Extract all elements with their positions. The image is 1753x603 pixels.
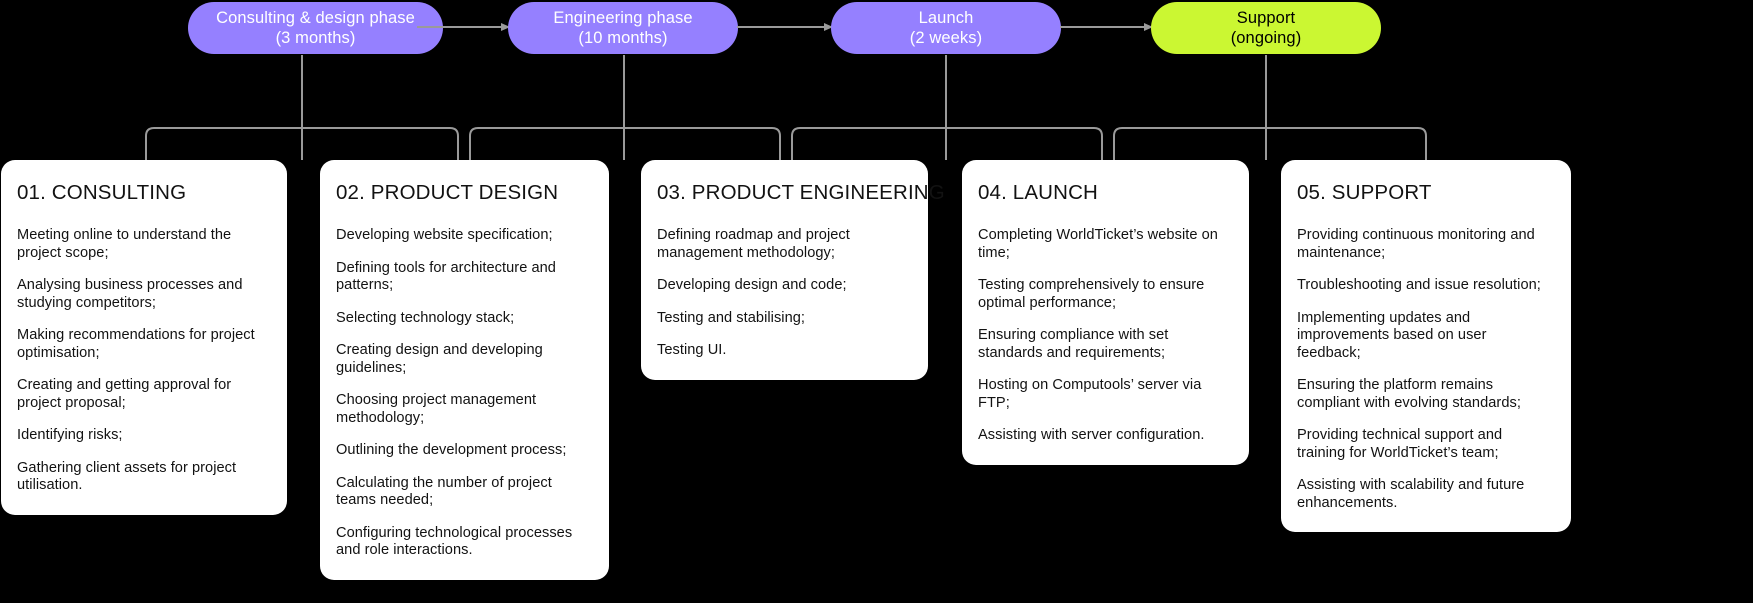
card-list-item: Creating and getting approval for projec… [17, 377, 269, 412]
card-launch[interactable]: 04. LAUNCH Completing WorldTicket’s webs… [962, 160, 1249, 465]
card-list-item: Completing WorldTicket’s website on time… [978, 227, 1231, 262]
arrow-engineering-to-launch [737, 26, 832, 28]
card-list-item: Developing design and code; [657, 277, 910, 295]
card-list-item: Assisting with scalability and future en… [1297, 477, 1553, 512]
card-list-item: Providing continuous monitoring and main… [1297, 227, 1553, 262]
card-item-list: Defining roadmap and project management … [657, 227, 910, 360]
card-product-engineering[interactable]: 03. PRODUCT ENGINEERING Defining roadmap… [641, 160, 928, 380]
card-list-item: Configuring technological processes and … [336, 525, 591, 560]
card-list-item: Ensuring the platform remains compliant … [1297, 377, 1553, 412]
card-list-item: Identifying risks; [17, 427, 269, 445]
card-list-item: Implementing updates and improvements ba… [1297, 310, 1553, 363]
connector-bracket-support [1114, 128, 1426, 160]
card-list-item: Meeting online to understand the project… [17, 227, 269, 262]
card-list-item: Making recommendations for project optim… [17, 327, 269, 362]
phase-label-line1: Support [1237, 8, 1296, 28]
card-item-list: Developing website specification;Definin… [336, 227, 591, 560]
card-list-item: Gathering client assets for project util… [17, 460, 269, 495]
card-list-item: Testing comprehensively to ensure optima… [978, 277, 1231, 312]
card-title: 03. PRODUCT ENGINEERING [657, 180, 910, 205]
card-list-item: Analysing business processes and studyin… [17, 277, 269, 312]
phase-label-line2: (3 months) [276, 28, 356, 48]
phase-label-line2: (2 weeks) [910, 28, 982, 48]
card-list-item: Outlining the development process; [336, 442, 591, 460]
card-title: 01. CONSULTING [17, 180, 269, 205]
card-list-item: Ensuring compliance with set standards a… [978, 327, 1231, 362]
arrow-consulting-to-engineering [417, 26, 509, 28]
card-list-item: Testing UI. [657, 342, 910, 360]
card-list-item: Hosting on Computools’ server via FTP; [978, 377, 1231, 412]
phase-box-engineering[interactable]: Engineering phase (10 months) [508, 2, 738, 54]
card-product-design[interactable]: 02. PRODUCT DESIGN Developing website sp… [320, 160, 609, 580]
card-list-item: Defining roadmap and project management … [657, 227, 910, 262]
phase-box-support[interactable]: Support (ongoing) [1151, 2, 1381, 54]
connector-bracket-engineering [470, 128, 780, 160]
card-item-list: Providing continuous monitoring and main… [1297, 227, 1553, 512]
card-list-item: Defining tools for architecture and patt… [336, 260, 591, 295]
card-list-item: Assisting with server configuration. [978, 427, 1231, 445]
card-title: 02. PRODUCT DESIGN [336, 180, 591, 205]
card-title: 05. SUPPORT [1297, 180, 1553, 205]
card-list-item: Choosing project management methodology; [336, 392, 591, 427]
card-list-item: Calculating the number of project teams … [336, 475, 591, 510]
connector-bracket-consulting [146, 128, 458, 160]
phase-box-launch[interactable]: Launch (2 weeks) [831, 2, 1061, 54]
card-list-item: Developing website specification; [336, 227, 591, 245]
diagram-canvas: Consulting & design phase (3 months) Eng… [0, 0, 1753, 603]
phase-label-line1: Consulting & design phase [216, 8, 415, 28]
connector-bracket-launch [792, 128, 1102, 160]
phase-label-line2: (10 months) [578, 28, 667, 48]
card-list-item: Selecting technology stack; [336, 310, 591, 328]
card-item-list: Meeting online to understand the project… [17, 227, 269, 495]
phase-label-line2: (ongoing) [1231, 28, 1302, 48]
card-item-list: Completing WorldTicket’s website on time… [978, 227, 1231, 445]
phase-box-consulting-design[interactable]: Consulting & design phase (3 months) [188, 2, 443, 54]
phase-label-line1: Launch [919, 8, 974, 28]
card-list-item: Providing technical support and training… [1297, 427, 1553, 462]
arrow-launch-to-support [1060, 26, 1152, 28]
card-consulting[interactable]: 01. CONSULTING Meeting online to underst… [1, 160, 287, 515]
phase-row: Consulting & design phase (3 months) Eng… [0, 0, 1753, 56]
phase-label-line1: Engineering phase [553, 8, 692, 28]
card-list-item: Creating design and developing guideline… [336, 342, 591, 377]
card-list-item: Troubleshooting and issue resolution; [1297, 277, 1553, 295]
card-list-item: Testing and stabilising; [657, 310, 910, 328]
card-title: 04. LAUNCH [978, 180, 1231, 205]
card-support[interactable]: 05. SUPPORT Providing continuous monitor… [1281, 160, 1571, 532]
